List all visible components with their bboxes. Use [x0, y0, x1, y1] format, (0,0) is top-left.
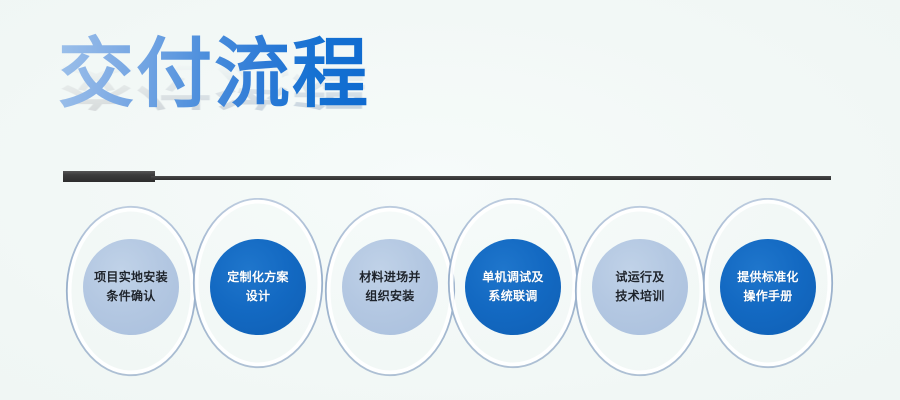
title-divider [63, 170, 831, 182]
page-title: 交付流程 [58, 32, 370, 116]
flow-node-label-line: 提供标准化 [737, 268, 799, 287]
flow-node-list: 项目实地安装条件确认定制化方案设计材料进场并组织安装单机调试及系统联调试运行及技… [0, 198, 900, 398]
flow-node-label-line: 组织安装 [365, 287, 414, 306]
flow-node-label-line: 条件确认 [106, 287, 155, 306]
flow-node-label-line: 材料进场并 [359, 268, 421, 287]
flow-node-label-line: 系统联调 [488, 287, 537, 306]
title-block: 交付流程 交付流程 [58, 32, 478, 162]
flow-node-label-line: 技术培训 [615, 287, 664, 306]
divider-rule-line [151, 176, 831, 180]
flow-node-label-line: 单机调试及 [482, 268, 544, 287]
flow-node-label-line: 设计 [246, 287, 271, 306]
flow-node-2[interactable]: 定制化方案设计 [210, 239, 306, 335]
slide-canvas: 交付流程 交付流程 项目实地安装条件确认定制化方案设计材料进场并组织安装单机调试… [0, 0, 900, 400]
flow-node-5[interactable]: 试运行及技术培训 [592, 239, 688, 335]
flow-node-label-line: 试运行及 [615, 268, 664, 287]
page-title-text: 交付流程 [58, 32, 370, 116]
flow-node-3[interactable]: 材料进场并组织安装 [342, 239, 438, 335]
divider-accent-block [63, 171, 155, 182]
delivery-process-flow: 项目实地安装条件确认定制化方案设计材料进场并组织安装单机调试及系统联调试运行及技… [0, 198, 900, 398]
flow-node-label-line: 项目实地安装 [94, 268, 168, 287]
flow-node-label-line: 操作手册 [743, 287, 792, 306]
flow-node-1[interactable]: 项目实地安装条件确认 [83, 239, 179, 335]
flow-node-label-line: 定制化方案 [227, 268, 289, 287]
flow-node-4[interactable]: 单机调试及系统联调 [465, 239, 561, 335]
flow-node-6[interactable]: 提供标准化操作手册 [720, 239, 816, 335]
